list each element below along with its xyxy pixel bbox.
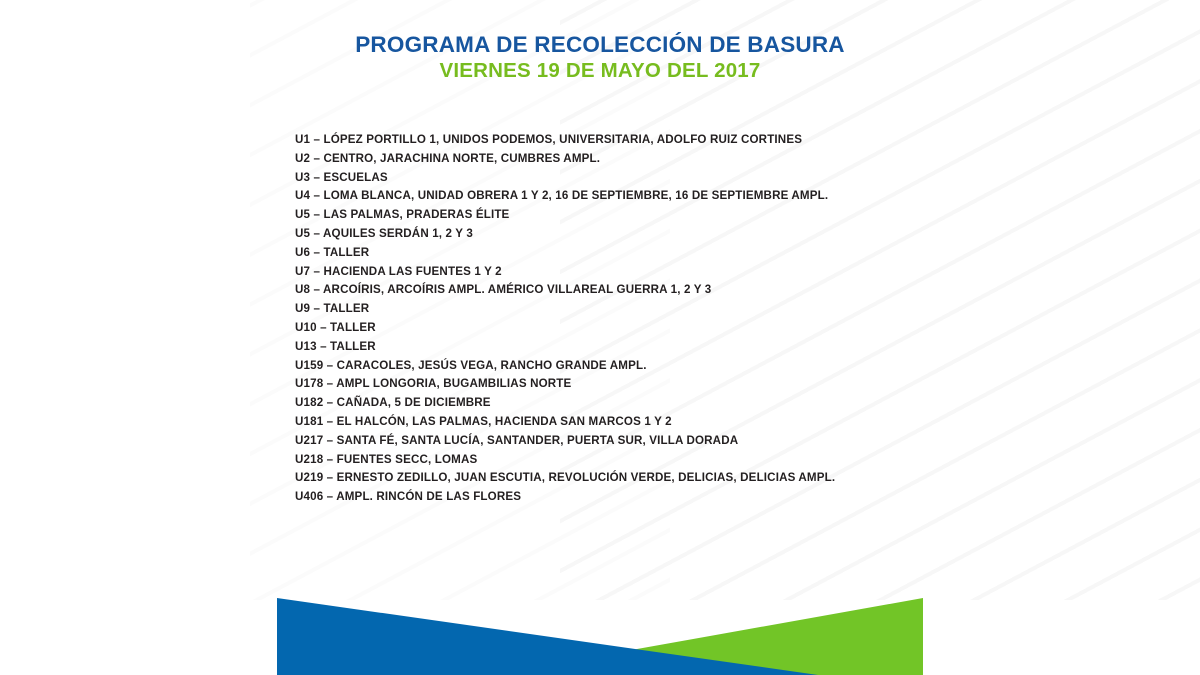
route-list-item: U219 – ERNESTO ZEDILLO, JUAN ESCUTIA, RE… <box>295 469 995 488</box>
route-list-item: U181 – EL HALCÓN, LAS PALMAS, HACIENDA S… <box>295 413 995 432</box>
route-list-item: U4 – LOMA BLANCA, UNIDAD OBRERA 1 Y 2, 1… <box>295 187 995 206</box>
poster-canvas: PROGRAMA DE RECOLECCIÓN DE BASURA VIERNE… <box>0 0 1200 675</box>
route-list-item: U7 – HACIENDA LAS FUENTES 1 Y 2 <box>295 263 995 282</box>
route-list-item: U13 – TALLER <box>295 338 995 357</box>
route-list-item: U9 – TALLER <box>295 300 995 319</box>
route-list-item: U178 – AMPL LONGORIA, BUGAMBILIAS NORTE <box>295 375 995 394</box>
route-list-item: U3 – ESCUELAS <box>295 169 995 188</box>
collection-route-list: U1 – LÓPEZ PORTILLO 1, UNIDOS PODEMOS, U… <box>295 131 995 507</box>
page-title: PROGRAMA DE RECOLECCIÓN DE BASURA <box>0 32 1200 58</box>
poster-header: PROGRAMA DE RECOLECCIÓN DE BASURA VIERNE… <box>0 32 1200 83</box>
route-list-item: U1 – LÓPEZ PORTILLO 1, UNIDOS PODEMOS, U… <box>295 131 995 150</box>
page-subtitle-date: VIERNES 19 DE MAYO DEL 2017 <box>0 58 1200 83</box>
green-triangle-shape <box>277 598 923 675</box>
route-list-item: U218 – FUENTES SECC, LOMAS <box>295 451 995 470</box>
route-list-item: U159 – CARACOLES, JESÚS VEGA, RANCHO GRA… <box>295 357 995 376</box>
route-list-item: U5 – LAS PALMAS, PRADERAS ÉLITE <box>295 206 995 225</box>
route-list-item: U6 – TALLER <box>295 244 995 263</box>
route-list-item: U5 – AQUILES SERDÁN 1, 2 Y 3 <box>295 225 995 244</box>
route-list-item: U2 – CENTRO, JARACHINA NORTE, CUMBRES AM… <box>295 150 995 169</box>
route-list-item: U10 – TALLER <box>295 319 995 338</box>
route-list-item: U8 – ARCOÍRIS, ARCOÍRIS AMPL. AMÉRICO VI… <box>295 281 995 300</box>
route-list-item: U182 – CAÑADA, 5 DE DICIEMBRE <box>295 394 995 413</box>
blue-triangle-shape <box>277 598 818 675</box>
route-list-item: U217 – SANTA FÉ, SANTA LUCÍA, SANTANDER,… <box>295 432 995 451</box>
route-list-item: U406 – AMPL. RINCÓN DE LAS FLORES <box>295 488 995 507</box>
